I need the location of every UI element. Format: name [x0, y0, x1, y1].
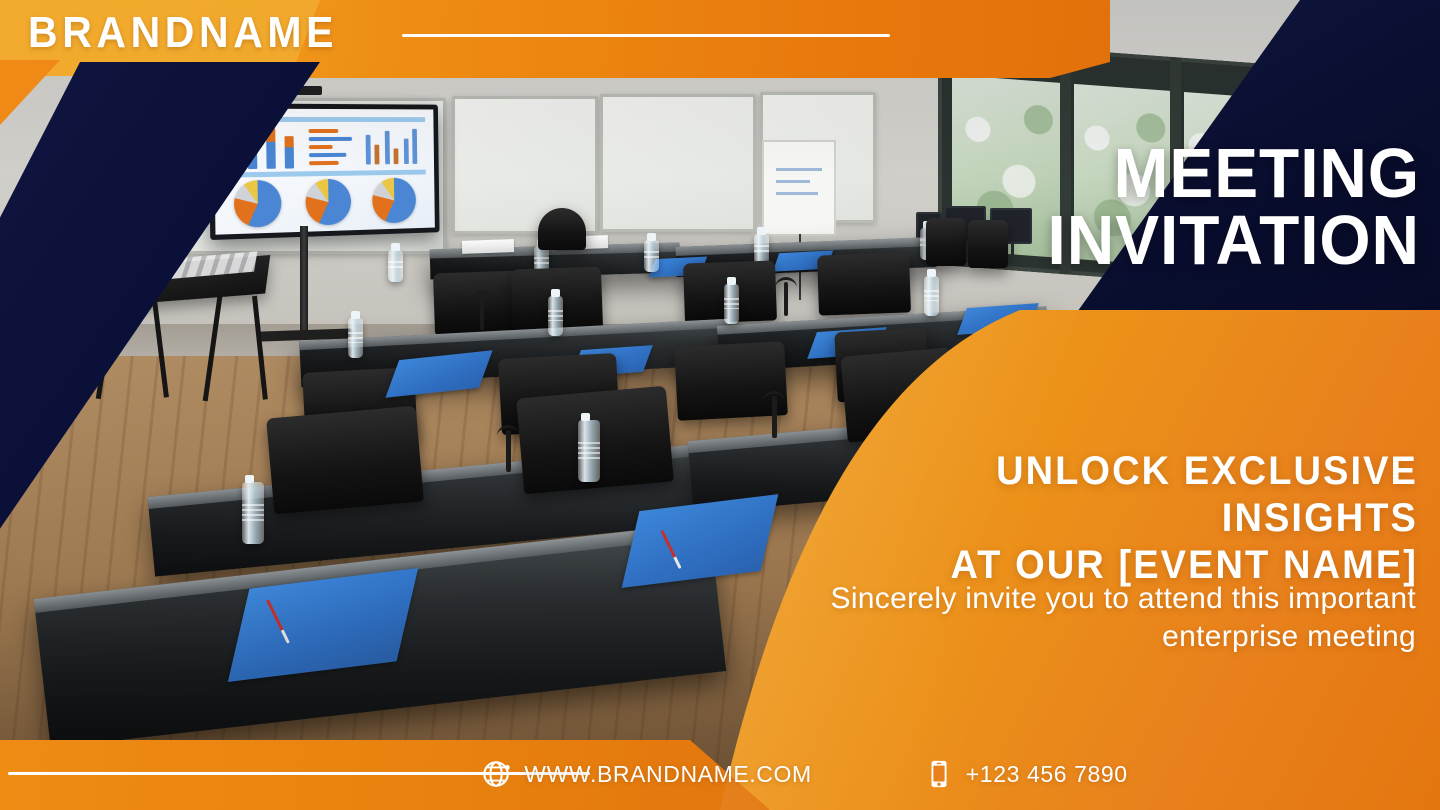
page-title: MEETING INVITATION — [1016, 140, 1420, 274]
header-rule-line — [402, 34, 890, 37]
subtitle: Sincerely invite you to attend this impo… — [796, 580, 1416, 656]
globe-icon — [482, 759, 512, 789]
title-line-1: MEETING — [1016, 140, 1420, 207]
subtitle-line-1: Sincerely invite you to attend this impo… — [796, 580, 1416, 618]
headline-line-1: UNLOCK EXCLUSIVE INSIGHTS — [848, 448, 1418, 542]
website-contact[interactable]: WWW.BRANDNAME.COM — [482, 759, 811, 789]
meeting-invitation-poster: BRANDNAME MEETING INVITATION UNLOCK EXCL… — [0, 0, 1440, 810]
website-label: WWW.BRANDNAME.COM — [524, 761, 811, 788]
footer-contacts: WWW.BRANDNAME.COM +123 456 7890 — [0, 738, 1440, 810]
brand-logo-text: BRANDNAME — [28, 8, 338, 58]
title-line-2: INVITATION — [1016, 207, 1420, 274]
mobile-phone-icon — [924, 759, 954, 789]
subtitle-line-2: enterprise meeting — [796, 618, 1416, 656]
phone-label: +123 456 7890 — [966, 761, 1128, 788]
headline: UNLOCK EXCLUSIVE INSIGHTS AT OUR [EVENT … — [848, 448, 1418, 590]
phone-contact[interactable]: +123 456 7890 — [924, 759, 1128, 789]
